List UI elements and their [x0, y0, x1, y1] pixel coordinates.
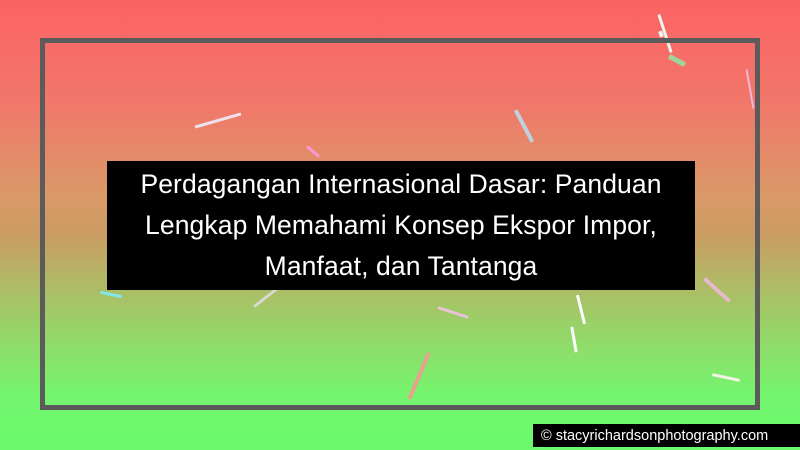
page-title: Perdagangan Internasional Dasar: Panduan… — [121, 164, 681, 287]
watermark-badge: © stacyrichardsonphotography.com — [533, 424, 800, 447]
title-plate: Perdagangan Internasional Dasar: Panduan… — [107, 161, 695, 290]
watermark-text: © stacyrichardsonphotography.com — [541, 428, 768, 444]
poster-image: Perdagangan Internasional Dasar: Panduan… — [0, 0, 800, 450]
streak-dot-top-right — [658, 30, 664, 37]
